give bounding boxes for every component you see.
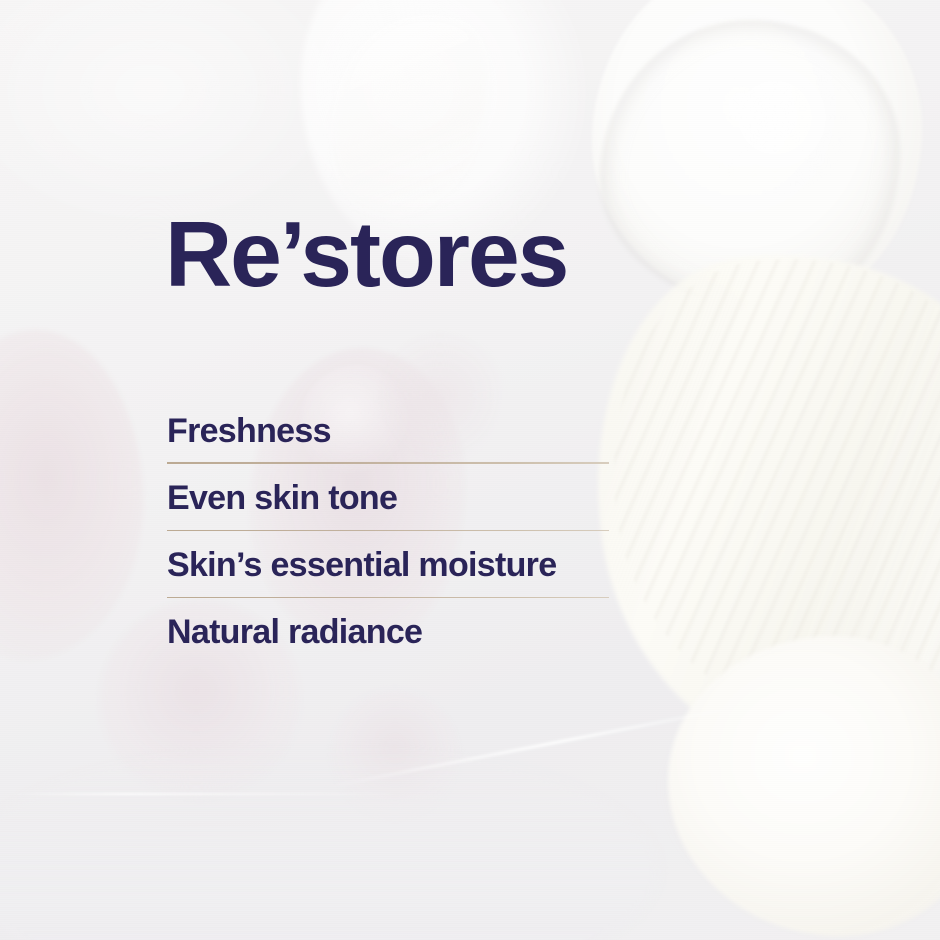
benefit-label: Freshness [167, 412, 609, 450]
list-item: Freshness [167, 412, 609, 464]
benefit-label: Natural radiance [167, 613, 609, 651]
benefit-label: Even skin tone [167, 479, 609, 517]
benefit-list: Freshness Even skin tone Skin’s essentia… [167, 412, 609, 651]
list-item: Skin’s essential moisture [167, 546, 609, 598]
promo-canvas: Re’stores Freshness Even skin tone Skin’… [0, 0, 940, 940]
page-title: Re’stores [165, 206, 567, 304]
list-item: Natural radiance [167, 613, 609, 651]
content-layer: Re’stores Freshness Even skin tone Skin’… [0, 0, 940, 940]
list-item: Even skin tone [167, 479, 609, 531]
benefit-label: Skin’s essential moisture [167, 546, 609, 584]
